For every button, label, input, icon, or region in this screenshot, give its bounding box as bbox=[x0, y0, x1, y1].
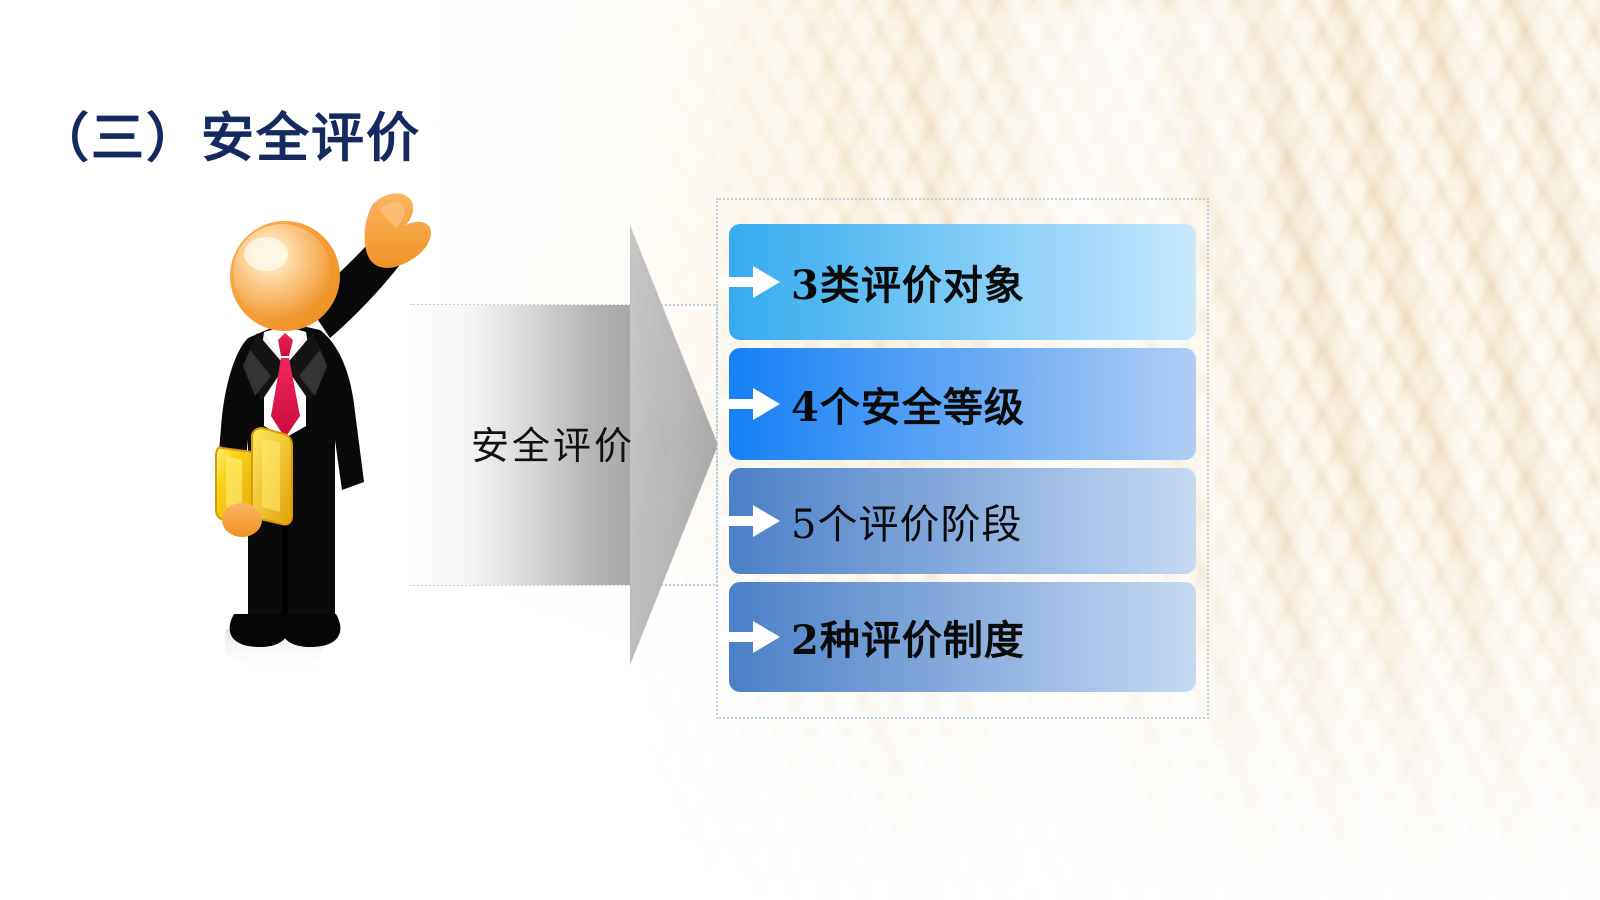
white-right-arrow-icon bbox=[719, 504, 781, 538]
slide-canvas: （三）安全评价 bbox=[0, 0, 1600, 900]
items-group-dotted-frame: 3类评价对象 4个安全等级 5个评价阶段 bbox=[716, 198, 1209, 719]
process-item-label: 4个安全等级 bbox=[791, 375, 1025, 433]
white-right-arrow-icon bbox=[719, 387, 781, 421]
businessman-illustration bbox=[130, 190, 440, 690]
process-item-1[interactable]: 3类评价对象 bbox=[729, 224, 1196, 340]
process-item-label: 2种评价制度 bbox=[791, 608, 1025, 666]
white-right-arrow-icon bbox=[719, 265, 781, 299]
process-item-label: 3类评价对象 bbox=[791, 253, 1025, 311]
white-right-arrow-icon bbox=[719, 620, 781, 654]
process-item-4[interactable]: 2种评价制度 bbox=[729, 582, 1196, 692]
process-item-3[interactable]: 5个评价阶段 bbox=[729, 468, 1196, 574]
source-label: 安全评价 bbox=[438, 415, 668, 470]
process-item-label: 5个评价阶段 bbox=[791, 492, 1022, 550]
page-title: （三）安全评价 bbox=[36, 96, 421, 172]
process-item-2[interactable]: 4个安全等级 bbox=[729, 348, 1196, 460]
